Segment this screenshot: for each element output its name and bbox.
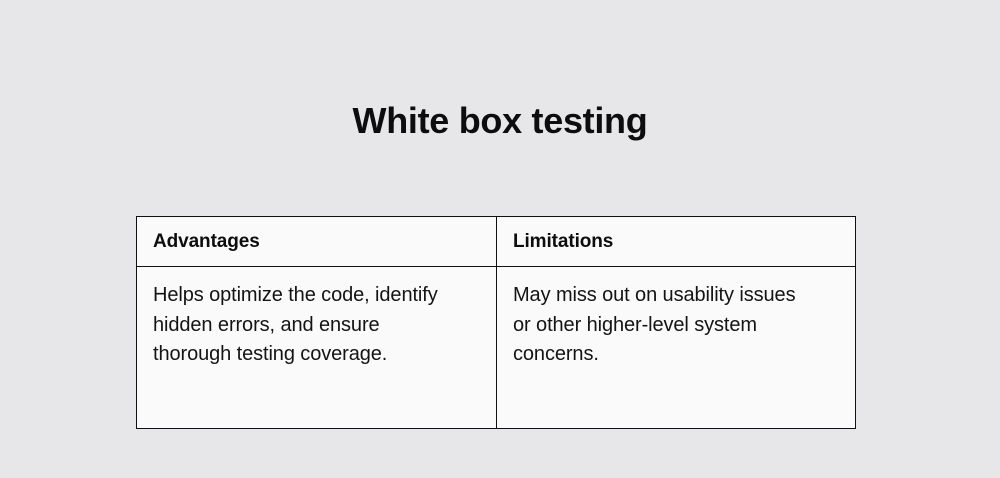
page-title: White box testing — [0, 98, 1000, 144]
cell-advantages: Helps optimize the code, identify hidden… — [137, 267, 497, 429]
cell-limitations-text: May miss out on usability issues or othe… — [513, 281, 813, 370]
column-header-limitations: Limitations — [497, 217, 856, 267]
table-header: Advantages Limitations — [137, 217, 856, 267]
cell-advantages-text: Helps optimize the code, identify hidden… — [153, 281, 453, 370]
table-header-row: Advantages Limitations — [137, 217, 856, 267]
cell-limitations: May miss out on usability issues or othe… — [497, 267, 856, 429]
comparison-table: Advantages Limitations Helps optimize th… — [136, 216, 856, 429]
column-header-advantages: Advantages — [137, 217, 497, 267]
table-row: Helps optimize the code, identify hidden… — [137, 267, 856, 429]
table-body: Helps optimize the code, identify hidden… — [137, 267, 856, 429]
slide-canvas: White box testing Advantages Limitations… — [0, 0, 1000, 478]
